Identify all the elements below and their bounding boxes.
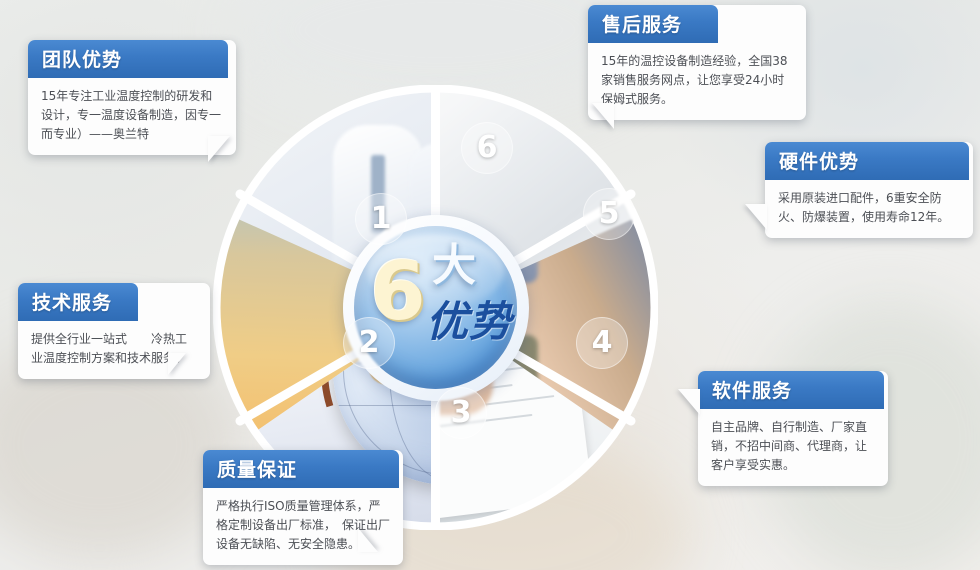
callout-card-team[interactable]: 团队优势 15年专注工业温度控制的研发和设计，专一温度设备制造，因专一而专业）—… xyxy=(28,40,236,155)
hub-word-bottom: 优势 xyxy=(426,300,512,344)
card-body-quality: 严格执行ISO质量管理体系，严格定制设备出厂标准， 保证出厂设备无缺陷、无安全隐… xyxy=(203,488,403,565)
poster-canvas: STOCK MARKET DATA INTC 440.86 xyxy=(0,0,980,570)
segment-badge-5[interactable]: 5 xyxy=(583,188,635,240)
callout-card-after-sales[interactable]: 售后服务 15年的温控设备制造经验，全国38家销售服务网点，让您享受24小时保姆… xyxy=(588,5,806,120)
card-body-hardware: 采用原装进口配件，6重安全防火、防爆装置，使用寿命12年。 xyxy=(765,180,973,238)
card-title-quality: 质量保证 xyxy=(203,450,399,488)
hub-word-top: 大 xyxy=(432,244,476,288)
segment-badge-2[interactable]: 2 xyxy=(343,317,395,369)
callout-tail xyxy=(745,204,767,230)
callout-tail xyxy=(358,528,378,552)
callout-card-quality[interactable]: 质量保证 严格执行ISO质量管理体系，严格定制设备出厂标准， 保证出厂设备无缺陷… xyxy=(203,450,403,565)
callout-tail xyxy=(168,353,186,375)
callout-card-technical[interactable]: 技术服务 提供全行业一站式 冷热工业温度控制方案和技术服务。 xyxy=(18,283,210,379)
card-title-technical: 技术服务 xyxy=(18,283,138,321)
callout-card-hardware[interactable]: 硬件优势 采用原装进口配件，6重安全防火、防爆装置，使用寿命12年。 xyxy=(765,142,973,238)
callout-tail xyxy=(208,136,230,162)
segment-badge-1[interactable]: 1 xyxy=(355,193,407,245)
segment-badge-4[interactable]: 4 xyxy=(576,317,628,369)
callout-tail xyxy=(592,103,614,129)
callout-tail xyxy=(678,389,700,415)
card-title-hardware: 硬件优势 xyxy=(765,142,969,180)
card-title-software: 软件服务 xyxy=(698,371,884,409)
card-title-team: 团队优势 xyxy=(28,40,228,78)
card-body-team: 15年专注工业温度控制的研发和设计，专一温度设备制造，因专一而专业）——奥兰特 xyxy=(28,78,236,155)
segment-badge-6[interactable]: 6 xyxy=(461,122,513,174)
segment-badge-3[interactable]: 3 xyxy=(435,387,487,439)
card-title-after-sales: 售后服务 xyxy=(588,5,718,43)
card-body-after-sales: 15年的温控设备制造经验，全国38家销售服务网点，让您享受24小时保姆式服务。 xyxy=(588,43,806,120)
callout-card-software[interactable]: 软件服务 自主品牌、自行制造、厂家直销，不招中间商、代理商，让客户享受实惠。 xyxy=(698,371,888,486)
card-body-software: 自主品牌、自行制造、厂家直销，不招中间商、代理商，让客户享受实惠。 xyxy=(698,409,888,486)
